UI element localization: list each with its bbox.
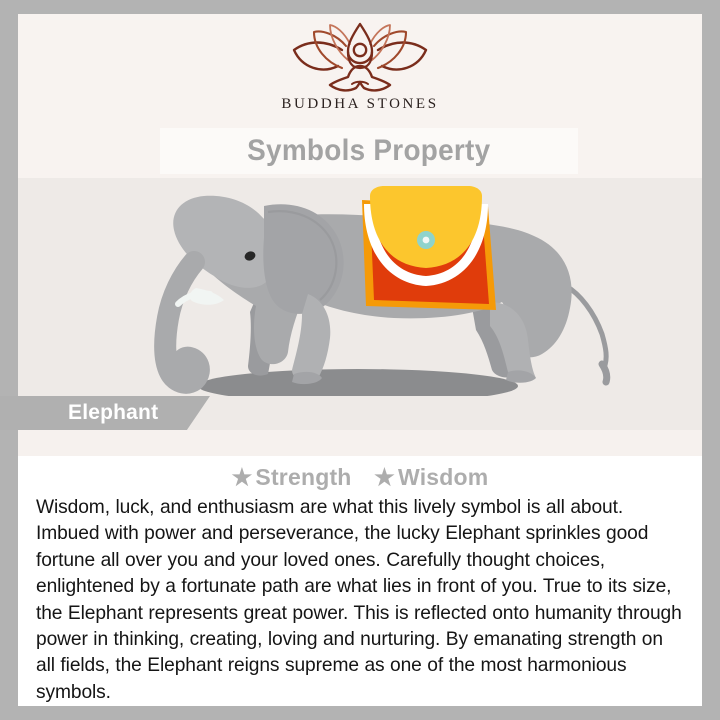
elephant-figure (165, 186, 607, 384)
symbol-name-banner: Elephant (0, 396, 210, 430)
symbol-property-card: BUDDHA STONES Symbols Property (0, 0, 720, 720)
lotus-meditation-icon (286, 22, 434, 94)
ground-shadow (198, 369, 518, 396)
symbol-description-text: Wisdom, luck, and enthusiasm are what th… (36, 495, 684, 706)
frame-left-strip (0, 0, 18, 720)
frame-right-strip (702, 0, 720, 720)
symbol-traits: ★Strength ★Wisdom (18, 456, 702, 491)
illustration-stage (18, 178, 702, 396)
elephant-trunk (165, 262, 199, 383)
trait-label: Strength (255, 464, 351, 490)
brand-logo: BUDDHA STONES (18, 22, 702, 113)
saddle-gem-center (423, 237, 430, 244)
star-icon: ★ (232, 464, 253, 490)
trait-strength: ★Strength (232, 464, 352, 491)
frame-bottom-strip (0, 706, 720, 720)
star-icon: ★ (374, 464, 395, 490)
frame-top-strip (0, 0, 720, 14)
page-title: Symbols Property (247, 134, 490, 168)
brand-name: BUDDHA STONES (18, 96, 702, 113)
elephant-saddle (362, 186, 496, 310)
symbol-name: Elephant (68, 401, 158, 425)
elephant-illustration (18, 178, 702, 396)
band-spacer (18, 430, 702, 456)
page-title-banner: Symbols Property (160, 128, 578, 174)
trait-label: Wisdom (398, 464, 488, 490)
symbol-description-panel: ★Strength ★Wisdom Wisdom, luck, and enth… (18, 456, 702, 706)
trait-wisdom: ★Wisdom (374, 464, 488, 491)
